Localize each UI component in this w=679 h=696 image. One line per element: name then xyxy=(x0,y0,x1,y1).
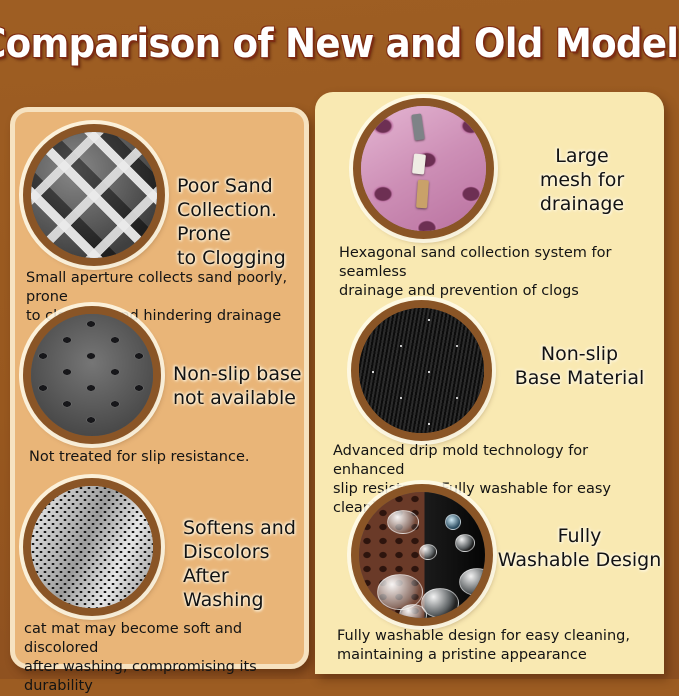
litter-bit-tan xyxy=(416,180,429,209)
new-section-2-heading: Non-slip Base Material xyxy=(497,342,662,390)
bubble xyxy=(455,534,475,552)
fine-mesh-fabric-photo xyxy=(23,478,161,616)
new-section-3-caption: Fully washable design for easy cleaning,… xyxy=(337,627,659,665)
mesh-texture xyxy=(31,132,157,258)
black-non-slip-base-photo xyxy=(351,300,492,441)
old-section-2-caption: Not treated for slip resistance. xyxy=(29,448,309,467)
dimpled-base-photo xyxy=(23,306,161,444)
pink-hexagonal-mesh-photo xyxy=(353,98,494,239)
new-section-1-heading: Large mesh for drainage xyxy=(501,144,663,216)
bubble xyxy=(455,604,479,624)
old-section-3-caption: cat mat may become soft and discolored a… xyxy=(24,620,312,696)
fine-mesh-texture xyxy=(31,486,153,608)
old-model-panel: Poor Sand Collection. Prone to Clogging … xyxy=(10,107,309,669)
title-bar: Comparison of New and Old Models xyxy=(0,0,679,88)
new-section-1-caption: Hexagonal sand collection system for sea… xyxy=(339,244,659,301)
bubble xyxy=(387,510,419,534)
page-title: Comparison of New and Old Models xyxy=(0,22,679,66)
black-weave-texture xyxy=(359,308,484,433)
new-section-3-heading: Fully Washable Design xyxy=(497,524,662,572)
small-aperture-mesh-photo xyxy=(23,124,165,266)
old-section-3-heading: Softens and Discolors After Washing xyxy=(183,516,313,612)
litter-bit-white xyxy=(412,153,426,174)
bubble xyxy=(399,604,427,626)
bubble xyxy=(445,514,461,530)
dimple-texture xyxy=(31,314,153,436)
bubble xyxy=(419,544,437,560)
infographic-root: Comparison of New and Old Models Poor Sa… xyxy=(0,0,679,679)
old-section-1-heading: Poor Sand Collection. Prone to Clogging xyxy=(177,174,312,270)
washing-bubbles-photo xyxy=(351,484,493,626)
old-section-2-heading: Non-slip base not available xyxy=(173,362,313,410)
new-model-panel: Large mesh for drainage Hexagonal sand c… xyxy=(315,92,664,674)
bubble xyxy=(459,568,493,596)
